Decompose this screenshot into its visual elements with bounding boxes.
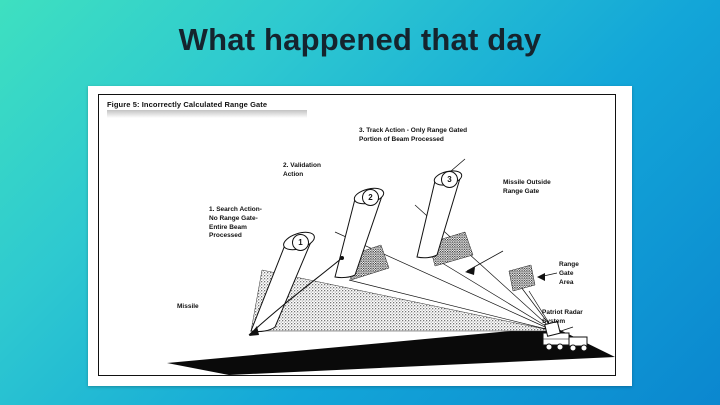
badge-3: 3 xyxy=(441,171,458,188)
label-search-action: 1. Search Action- No Range Gate- Entire … xyxy=(209,206,262,241)
label-missile-outside-range-gate: Missile Outside Range Gate xyxy=(503,179,551,197)
figure-frame: Figure 5: Incorrectly Calculated Range G… xyxy=(98,94,616,376)
badge-2: 2 xyxy=(362,189,379,206)
slide: What happened that day Figure 5: Incorre… xyxy=(0,0,720,405)
label-range-gate-area: Range Gate Area xyxy=(559,261,579,287)
label-missile: Missile xyxy=(177,303,199,312)
figure-card: Figure 5: Incorrectly Calculated Range G… xyxy=(88,86,632,386)
page-title: What happened that day xyxy=(0,22,720,58)
search-beam xyxy=(251,270,554,331)
range-gate-patch-3 xyxy=(509,265,535,291)
radar-beam-diagram xyxy=(99,95,615,375)
label-patriot-radar-system: Patriot Radar System xyxy=(542,309,583,327)
badge-1: 1 xyxy=(292,234,309,251)
label-track-action: 3. Track Action - Only Range Gated Porti… xyxy=(359,127,467,145)
label-validation-action: 2. Validation Action xyxy=(283,162,321,180)
